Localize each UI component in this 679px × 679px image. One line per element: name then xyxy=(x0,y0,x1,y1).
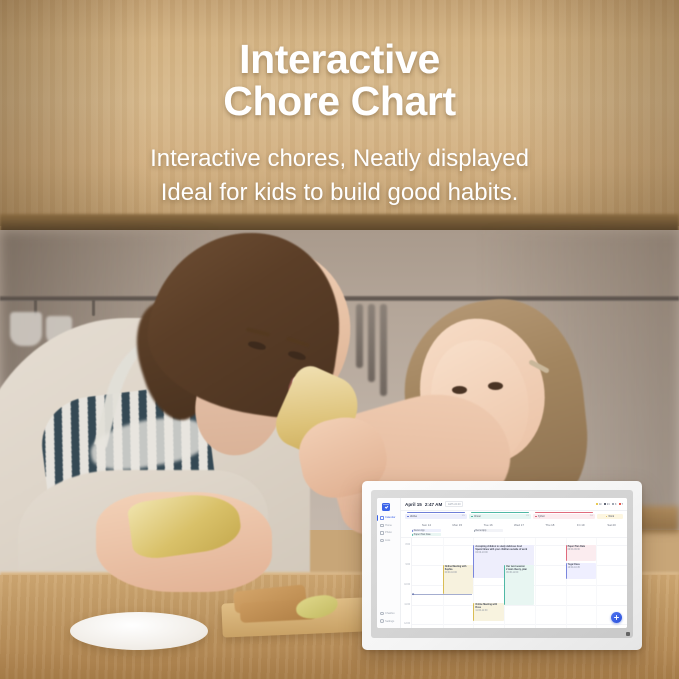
legend-dot-red xyxy=(619,503,621,505)
chat-icon xyxy=(380,612,384,616)
all-day-cell-thu[interactable] xyxy=(534,529,565,537)
tablet-screen: Calendar Home Photo Lists Chat/Go xyxy=(377,498,627,628)
device-indicator-dot xyxy=(626,632,630,636)
pill-progress-bar xyxy=(471,512,529,513)
calendar-header: April 15 2:47 AM GMT+04:00 19 94 xyxy=(401,498,627,511)
home-icon xyxy=(380,524,384,528)
category-pill-row: Mother 3/5 Dinner 1/3 Python 2/4 xyxy=(401,511,627,521)
all-day-cell-tue[interactable]: Demo App xyxy=(473,529,504,537)
all-day-row: Demo App Paper Plan Date Demo App xyxy=(401,529,627,538)
legend-dot-yellow xyxy=(596,503,598,505)
girl-eye xyxy=(488,382,503,390)
hanging-utensil xyxy=(380,304,387,396)
all-day-chip-label: Demo App xyxy=(476,530,487,532)
pill-progress-bar xyxy=(535,512,593,513)
add-event-fab[interactable] xyxy=(611,612,622,623)
sidebar-item-lists[interactable]: Lists xyxy=(377,537,400,545)
category-pill-dinner[interactable]: Dinner 1/3 xyxy=(469,514,531,520)
calendar-event[interactable]: Online Meeting with Sophia 00:00-10:00 xyxy=(443,565,473,594)
photo-icon xyxy=(380,531,384,535)
subtitle-line-2: Ideal for kids to build good habits. xyxy=(0,176,679,210)
pill-label: Python xyxy=(538,515,546,518)
girl-eye xyxy=(452,386,467,394)
sidebar-item-settings[interactable]: Settings xyxy=(377,617,400,625)
time-grid[interactable]: Accepting children to study delicious fo… xyxy=(411,538,627,628)
sidebar-item-calendar[interactable]: Calendar xyxy=(377,514,400,522)
legend-dot-dark xyxy=(604,503,606,505)
time-label: 12:00 xyxy=(404,623,410,625)
all-day-chip[interactable]: Paper Plan Date xyxy=(412,533,441,536)
current-time-line xyxy=(412,594,472,595)
calendar-check-logo[interactable] xyxy=(382,503,390,511)
pill-dot xyxy=(471,516,473,518)
calendar-event[interactable]: Paper Plan Date 09:00-09:30 xyxy=(566,545,596,561)
pill-label: Work xyxy=(608,515,614,518)
calendar-event[interactable]: Our next session 2 main theory, plan 09:… xyxy=(504,565,534,606)
day-header-sat[interactable]: Sat 20 xyxy=(596,521,627,529)
all-day-chip[interactable]: Demo App xyxy=(474,529,503,532)
check-icon xyxy=(384,505,387,508)
calendar-event[interactable]: Yoga Class 10:00-10:45 xyxy=(566,563,596,579)
day-header-sun[interactable]: Sun 14 xyxy=(411,521,442,529)
event-time: 00:00-10:00 xyxy=(445,572,472,575)
all-day-chip-label: Demo App xyxy=(414,530,425,532)
all-day-chip[interactable]: Demo App xyxy=(412,529,441,532)
all-day-cell-sat[interactable] xyxy=(596,529,627,537)
pill-count: 2/4 xyxy=(590,515,593,517)
all-day-cell-mon[interactable] xyxy=(442,529,473,537)
day-header-mon[interactable]: Mon 15 xyxy=(442,521,473,529)
device-bezel: Calendar Home Photo Lists Chat/Go xyxy=(371,490,633,638)
all-day-cell-sun[interactable]: Demo App Paper Plan Date xyxy=(411,529,442,537)
sidebar-item-label: Calendar xyxy=(385,516,395,519)
all-day-cell-fri[interactable] xyxy=(565,529,596,537)
week-view: Sun 14 Mon 15 Tue 16 Wed 17 Thu 18 Fri 1… xyxy=(401,521,627,628)
app-sidebar: Calendar Home Photo Lists Chat/Go xyxy=(377,498,401,628)
all-day-cell-wed[interactable] xyxy=(504,529,535,537)
rail-hook xyxy=(92,300,95,316)
sidebar-item-photo[interactable]: Photo xyxy=(377,529,400,537)
legend-entry[interactable]: 8 xyxy=(612,503,616,506)
time-label: 9:00 xyxy=(406,564,410,566)
hanging-mug xyxy=(10,312,42,346)
hanging-utensil xyxy=(368,304,375,382)
white-plate xyxy=(70,612,208,650)
pill-progress-bar xyxy=(407,512,465,513)
legend-count: 8 xyxy=(615,503,616,506)
category-pill-work[interactable]: Work xyxy=(597,514,623,520)
sidebar-item-label: Settings xyxy=(385,620,394,623)
event-time: 09:00-09:30 xyxy=(568,549,595,552)
sidebar-item-label: Chat/Go xyxy=(385,612,394,615)
app-main: April 15 2:47 AM GMT+04:00 19 94 xyxy=(401,498,627,628)
event-time: 09:30-11:00 xyxy=(506,572,533,575)
legend-dot-gray xyxy=(612,503,614,505)
category-pill-mother[interactable]: Mother 3/5 xyxy=(405,514,467,520)
pill-count: 1/3 xyxy=(526,515,529,517)
pill-dot xyxy=(407,516,409,518)
legend-entry[interactable]: 7 xyxy=(619,503,623,506)
current-date: April 15 xyxy=(405,502,422,507)
hanging-utensil xyxy=(356,304,363,368)
day-header-tue[interactable]: Tue 16 xyxy=(473,521,504,529)
headline-line-2: Chore Chart xyxy=(0,80,679,122)
legend-count: 7 xyxy=(622,503,623,506)
legend-entry[interactable]: 94 xyxy=(604,503,610,506)
plus-icon xyxy=(614,615,619,620)
pill-dot xyxy=(606,516,608,518)
list-icon xyxy=(380,539,384,543)
sidebar-item-chat[interactable]: Chat/Go xyxy=(377,610,400,618)
headline-line-1: Interactive xyxy=(0,38,679,80)
day-header-wed[interactable]: Wed 17 xyxy=(504,521,535,529)
calendar-event[interactable]: Online Meeting with Ross 11:00-11:30 xyxy=(473,603,503,621)
day-header-thu[interactable]: Thu 18 xyxy=(534,521,565,529)
subtitle-line-1: Interactive chores, Neatly displayed xyxy=(0,142,679,176)
pill-count: 3/5 xyxy=(462,515,465,517)
page-title: Interactive Chore Chart xyxy=(0,38,679,122)
category-pill-python[interactable]: Python 2/4 xyxy=(533,514,595,520)
day-header-fri[interactable]: Fri 19 xyxy=(565,521,596,529)
day-header-row: Sun 14 Mon 15 Tue 16 Wed 17 Thu 18 Fri 1… xyxy=(401,521,627,529)
sidebar-item-label: Home xyxy=(385,524,392,527)
sidebar-item-label: Photo xyxy=(385,531,392,534)
legend-entry[interactable]: 19 xyxy=(596,503,602,506)
calendar-icon xyxy=(380,516,384,520)
time-label: 11:00 xyxy=(404,604,410,606)
current-time: 2:47 AM xyxy=(425,502,442,507)
sidebar-item-label: Lists xyxy=(385,539,390,542)
event-time: 00:00-10:00 xyxy=(475,552,532,555)
gear-icon xyxy=(380,619,384,623)
sidebar-spacer xyxy=(377,544,400,609)
event-time: 10:00-10:45 xyxy=(568,567,595,570)
legend-count: 94 xyxy=(607,503,610,506)
pill-dot xyxy=(535,516,537,518)
time-label: 10:00 xyxy=(404,584,410,586)
pill-label: Dinner xyxy=(474,515,481,518)
sidebar-item-home[interactable]: Home xyxy=(377,522,400,530)
time-label: 8:00 xyxy=(406,544,410,546)
page-subtitle: Interactive chores, Neatly displayed Ide… xyxy=(0,142,679,210)
time-axis: 8:00 9:00 10:00 11:00 12:00 xyxy=(401,538,411,628)
pill-label: Mother xyxy=(410,515,418,518)
timezone-selector[interactable]: GMT+04:00 xyxy=(445,501,463,507)
tablet-device: Calendar Home Photo Lists Chat/Go xyxy=(362,481,642,650)
event-time: 11:00-11:30 xyxy=(475,610,502,613)
legend-count: 19 xyxy=(599,503,602,506)
time-grid-wrapper: 8:00 9:00 10:00 11:00 12:00 xyxy=(401,538,627,628)
current-time-dot xyxy=(412,593,414,595)
status-legend: 19 94 8 7 xyxy=(596,503,623,506)
all-day-chip-label: Paper Plan Date xyxy=(414,534,431,536)
